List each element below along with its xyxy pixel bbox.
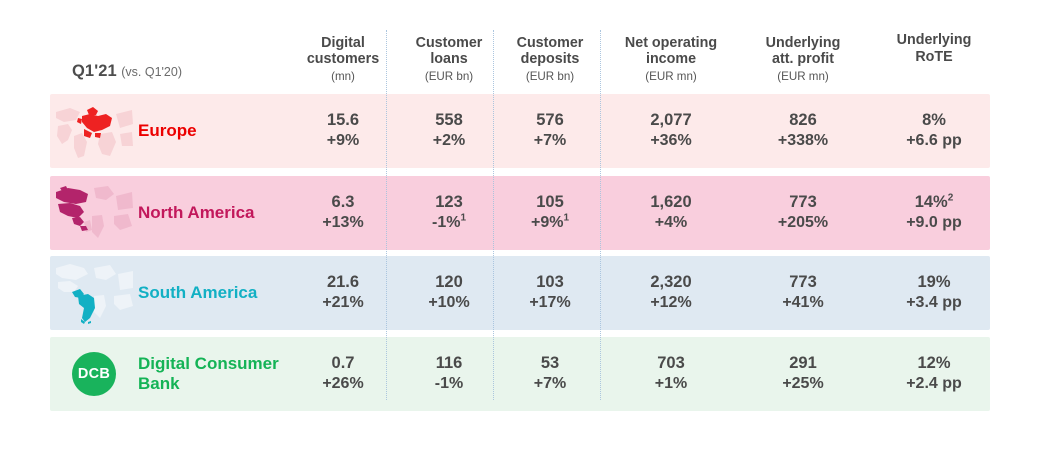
cell-delta: +10% — [428, 293, 469, 313]
cell-delta: +4% — [655, 213, 687, 233]
column-separator-1 — [386, 30, 388, 400]
cell-delta: +25% — [782, 374, 823, 394]
cell-customer-deposits: 576 +7% — [494, 94, 606, 168]
cell-delta: -1%1 — [432, 213, 466, 233]
cell-underlying-rote: 19% +3.4 pp — [872, 256, 996, 330]
cell-underlying-rote: 12% +2.4 pp — [872, 337, 996, 411]
cell-value: 103 — [536, 272, 564, 293]
cell-customer-deposits: 103 +17% — [494, 256, 606, 330]
cell-value: 1,620 — [650, 192, 691, 213]
cell-value: 105 — [536, 192, 564, 213]
cell-underlying-att-profit: 773 +205% — [733, 176, 873, 250]
table-row[interactable]: North America 6.3 +13% 123 -1%1 105 +9%1… — [50, 176, 990, 250]
cell-value: 773 — [789, 192, 817, 213]
cell-delta: +17% — [529, 293, 570, 313]
cell-delta: +13% — [322, 213, 363, 233]
cell-delta: +9%1 — [531, 213, 569, 233]
cell-value: 773 — [789, 272, 817, 293]
cell-delta: +12% — [650, 293, 691, 313]
cell-underlying-att-profit: 773 +41% — [733, 256, 873, 330]
column-unit: (mn) — [288, 70, 398, 84]
cell-delta: +21% — [322, 293, 363, 313]
cell-value: 14%2 — [915, 192, 954, 213]
cell-delta: +338% — [778, 131, 828, 151]
column-unit: (EUR mn) — [733, 70, 873, 84]
cell-delta: +3.4 pp — [906, 293, 962, 313]
region-label-text: South America — [138, 283, 257, 303]
cell-delta: +7% — [534, 374, 566, 394]
cell-underlying-att-profit: 291 +25% — [733, 337, 873, 411]
footnote-marker: 2 — [948, 193, 954, 204]
column-title-line2: income — [601, 51, 741, 68]
column-title-line1: Net operating — [601, 35, 741, 52]
table-row[interactable]: South America 21.6 +21% 120 +10% 103 +17… — [50, 256, 990, 330]
cell-customer-loans: 116 -1% — [394, 337, 504, 411]
cell-value: 53 — [541, 353, 559, 374]
cell-value: 2,077 — [650, 110, 691, 131]
column-unit: (EUR bn) — [494, 70, 606, 84]
column-unit: (EUR bn) — [394, 70, 504, 84]
cell-delta: +9.0 pp — [906, 213, 962, 233]
cell-value: 576 — [536, 110, 564, 131]
cell-digital-customers: 0.7 +26% — [288, 337, 398, 411]
column-title-line2: customers — [288, 51, 398, 68]
column-title-line1: Underlying — [733, 35, 873, 52]
column-header-underlying-att-profit: Underlying att. profit (EUR mn) — [733, 35, 873, 84]
cell-customer-loans: 558 +2% — [394, 94, 504, 168]
cell-customer-loans: 120 +10% — [394, 256, 504, 330]
column-header-underlying-rote: Underlying RoTE — [872, 32, 996, 66]
column-title-line2: deposits — [494, 51, 606, 68]
period-comparison: (vs. Q1'20) — [121, 65, 182, 79]
cell-value: 19% — [917, 272, 950, 293]
column-header-net-operating-income: Net operating income (EUR mn) — [601, 35, 741, 84]
cell-delta: +2% — [433, 131, 465, 151]
region-label-text: North America — [138, 203, 255, 223]
period-main: Q1'21 — [72, 62, 117, 80]
cell-value: 12% — [917, 353, 950, 374]
column-title-line1: Digital — [288, 35, 398, 52]
cell-value: 120 — [435, 272, 463, 293]
cell-delta: -1% — [435, 374, 463, 394]
cell-underlying-rote: 8% +6.6 pp — [872, 94, 996, 168]
cell-value: 703 — [657, 353, 685, 374]
region-label-line1: Digital Consumer — [138, 354, 279, 373]
cell-customer-deposits: 53 +7% — [494, 337, 606, 411]
cell-net-operating-income: 1,620 +4% — [601, 176, 741, 250]
cell-net-operating-income: 2,077 +36% — [601, 94, 741, 168]
cell-value: 8% — [922, 110, 946, 131]
cell-digital-customers: 21.6 +21% — [288, 256, 398, 330]
cell-delta: +26% — [322, 374, 363, 394]
cell-value: 826 — [789, 110, 817, 131]
cell-value: 0.7 — [332, 353, 355, 374]
dcb-badge-icon: DCB — [52, 337, 136, 411]
cell-value: 6.3 — [332, 192, 355, 213]
cell-delta: +36% — [650, 131, 691, 151]
results-table-panel: Q1'21 (vs. Q1'20) Digital customers (mn)… — [0, 0, 1050, 450]
column-title-line1: Underlying — [872, 32, 996, 49]
cell-value: 15.6 — [327, 110, 359, 131]
cell-value: 21.6 — [327, 272, 359, 293]
footnote-marker: 1 — [460, 213, 466, 224]
cell-value: 116 — [436, 353, 463, 374]
cell-digital-customers: 6.3 +13% — [288, 176, 398, 250]
cell-delta: +1% — [655, 374, 687, 394]
world-map-europe-icon — [52, 94, 136, 168]
world-map-north-america-icon — [52, 176, 136, 250]
column-header-customer-deposits: Customer deposits (EUR bn) — [494, 35, 606, 84]
region-label-text: Europe — [138, 121, 197, 141]
world-map-south-america-icon — [52, 256, 136, 330]
column-title-line1: Customer — [394, 35, 504, 52]
cell-delta: +205% — [778, 213, 828, 233]
cell-delta: +2.4 pp — [906, 374, 962, 394]
column-separator-3 — [600, 30, 602, 400]
period-label: Q1'21 (vs. Q1'20) — [72, 62, 182, 81]
column-title-line2: loans — [394, 51, 504, 68]
column-separator-2 — [493, 30, 495, 400]
cell-delta: +6.6 pp — [906, 131, 962, 151]
cell-digital-customers: 15.6 +9% — [288, 94, 398, 168]
cell-underlying-att-profit: 826 +338% — [733, 94, 873, 168]
cell-value: 558 — [435, 110, 463, 131]
cell-delta: +41% — [782, 293, 823, 313]
cell-delta: +9% — [327, 131, 359, 151]
column-unit: (EUR mn) — [601, 70, 741, 84]
cell-value: 291 — [789, 353, 817, 374]
results-grid: Q1'21 (vs. Q1'20) Digital customers (mn)… — [50, 0, 990, 92]
cell-value: 2,320 — [650, 272, 691, 293]
cell-delta: +7% — [534, 131, 566, 151]
dcb-badge-label: DCB — [72, 352, 116, 396]
column-title-line1: Customer — [494, 35, 606, 52]
region-label-line2: Bank — [138, 374, 180, 393]
column-header-customer-loans: Customer loans (EUR bn) — [394, 35, 504, 84]
footnote-marker: 1 — [563, 213, 569, 224]
table-row[interactable]: Europe 15.6 +9% 558 +2% 576 +7% 2,077 +3… — [50, 94, 990, 168]
cell-net-operating-income: 2,320 +12% — [601, 256, 741, 330]
column-title-line2: att. profit — [733, 51, 873, 68]
table-header: Q1'21 (vs. Q1'20) Digital customers (mn)… — [50, 0, 990, 92]
table-row[interactable]: DCB Digital Consumer Bank 0.7 +26% 116 -… — [50, 337, 990, 411]
region-label-text: Digital Consumer Bank — [138, 354, 279, 393]
cell-customer-deposits: 105 +9%1 — [494, 176, 606, 250]
cell-value: 123 — [435, 192, 463, 213]
column-title-line2: RoTE — [872, 49, 996, 66]
cell-customer-loans: 123 -1%1 — [394, 176, 504, 250]
cell-underlying-rote: 14%2 +9.0 pp — [872, 176, 996, 250]
column-header-digital-customers: Digital customers (mn) — [288, 35, 398, 84]
cell-net-operating-income: 703 +1% — [601, 337, 741, 411]
